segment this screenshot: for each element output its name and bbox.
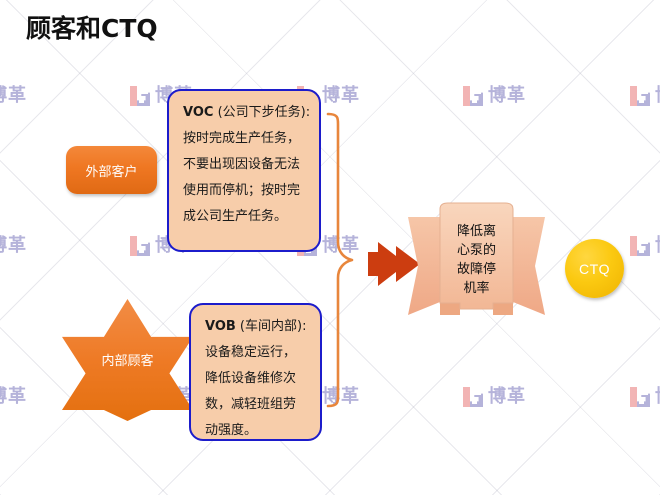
- vob-heading: VOB: [205, 319, 236, 334]
- bg-logo-icon: [463, 387, 483, 407]
- voc-heading: VOC: [183, 105, 213, 120]
- vob-heading-rest: (车间内部):: [236, 319, 307, 334]
- watermark-text: 博革: [0, 87, 27, 105]
- bg-logo-icon: [130, 236, 150, 256]
- goal-ribbon-shape[interactable]: [404, 199, 549, 320]
- voc-heading-line: VOC (公司下步任务):: [183, 100, 307, 126]
- page-title: 顾客和CTQ: [26, 9, 158, 45]
- vob-heading-line: VOB (车间内部):: [205, 314, 308, 340]
- voc-line: 按时完成生产任务，: [183, 126, 307, 152]
- watermark-text: 博革: [655, 388, 660, 406]
- vob-line: 降低设备维修次: [205, 366, 308, 392]
- watermark: 博革: [463, 86, 526, 106]
- watermark-text: 博革: [0, 237, 27, 255]
- voc-line: 使用而停机；按时完: [183, 178, 307, 204]
- watermark: 博革: [463, 387, 526, 407]
- ctq-label: CTQ: [579, 261, 610, 277]
- slide-canvas: 博革博革博革博革博革博革博革博革博革博革博革博革博革博革博革 顾客和CTQ 外部…: [0, 0, 660, 495]
- watermark-text: 博革: [655, 237, 660, 255]
- vob-line: 数，减轻班组劳: [205, 392, 308, 418]
- internal-customer-label: 内部顾客: [62, 350, 193, 369]
- voc-line: 不要出现因设备无法: [183, 152, 307, 178]
- bg-logo-icon: [463, 86, 483, 106]
- bg-logo-icon: [630, 387, 650, 407]
- vob-line: 设备稳定运行，: [205, 340, 308, 366]
- watermark-text: 博革: [0, 388, 27, 406]
- internal-customer-shape[interactable]: 内部顾客: [62, 299, 193, 421]
- watermark-text: 博革: [655, 87, 660, 105]
- voc-heading-rest: (公司下步任务):: [213, 105, 310, 120]
- vob-box[interactable]: VOB (车间内部): 设备稳定运行， 降低设备维修次 数，减轻班组劳 动强度。: [189, 303, 322, 441]
- bg-logo-icon: [130, 86, 150, 106]
- vob-line: 动强度。: [205, 418, 308, 444]
- external-customer-shape[interactable]: 外部客户: [66, 146, 157, 194]
- watermark: 博革: [0, 387, 27, 407]
- watermark: 博革: [630, 387, 660, 407]
- watermark-text: 博革: [488, 87, 526, 105]
- watermark: 博革: [0, 236, 27, 256]
- watermark: 博革: [0, 86, 27, 106]
- bg-logo-icon: [630, 236, 650, 256]
- voc-box[interactable]: VOC (公司下步任务): 按时完成生产任务， 不要出现因设备无法 使用而停机；…: [167, 89, 321, 252]
- ctq-circle[interactable]: CTQ: [565, 239, 624, 298]
- watermark-text: 博革: [488, 388, 526, 406]
- watermark: 博革: [630, 86, 660, 106]
- bg-logo-icon: [630, 86, 650, 106]
- watermark-text: 博革: [322, 87, 360, 105]
- external-customer-label: 外部客户: [85, 161, 137, 180]
- watermark: 博革: [630, 236, 660, 256]
- voc-line: 成公司生产任务。: [183, 204, 307, 230]
